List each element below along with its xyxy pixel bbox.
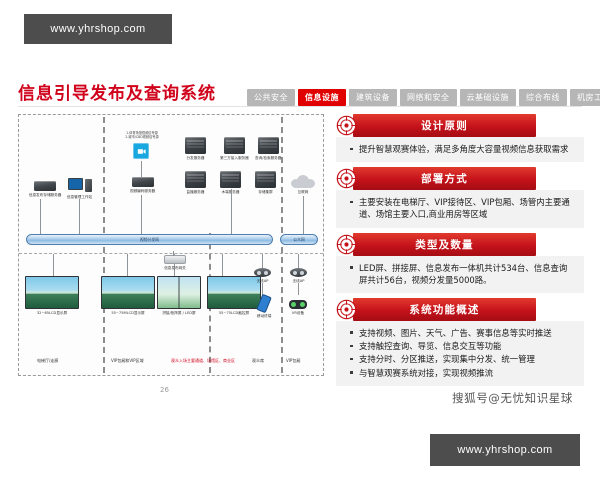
storage-server-label: 信息发布存储服务器 <box>29 193 61 198</box>
drop-line-1 <box>53 254 54 276</box>
router-icon <box>164 255 186 264</box>
mobile-terminal-label: 移动终端 <box>257 314 271 319</box>
mobile-phone-icon <box>256 294 272 314</box>
storage-server-icon <box>34 181 56 191</box>
lcd-screen-icon <box>101 276 155 309</box>
target-icon <box>336 234 357 255</box>
section-header: 系统功能概述 <box>336 298 584 321</box>
section-heading: 系统功能概述 <box>409 302 479 317</box>
tab-cloud-infra[interactable]: 云基础设施 <box>460 89 517 106</box>
video-wall-icon <box>157 276 201 309</box>
tab-building-equipment[interactable]: 建筑设备 <box>349 89 397 106</box>
section-header: 部署方式 <box>336 167 584 190</box>
query-server-label: 查询/检索服务器 <box>255 156 281 161</box>
bullet-list: 主要安装在电梯厅、VIP接待区、VIP包厢、场管内主要通道、场馆主要入口,商业用… <box>350 196 575 220</box>
target-icon <box>336 168 357 189</box>
node-encoder: 视频编码服务器 <box>130 177 155 194</box>
bus-video-distribution: 视频分发网 <box>26 234 273 245</box>
category-tabs: 公共安全 信息设施 建筑设备 网络和安全 云基础设施 综合布线 机房工程 <box>247 89 600 106</box>
diagram-divider-1 <box>103 117 105 373</box>
zone-label-vip: VIP包厢和VIP区域 <box>111 358 144 364</box>
section-ribbon: 类型及数量 <box>353 233 536 256</box>
bus-public-network: 公众网 <box>280 234 318 245</box>
section-design-principles: 设计原则 提升智慧观赛体验，满足多角度大容量视频信息获取需求 <box>336 114 584 162</box>
node-video-wall: 拼接/矩阵屏 / LED屏 <box>157 276 201 316</box>
node-gateway-router: 信息发布网关 <box>164 255 186 271</box>
section-deployment: 部署方式 主要安装在电梯厅、VIP接待区、VIP包厢、场管内主要通道、场馆主要入… <box>336 167 584 227</box>
bullet-item: 提升智慧观赛体验，满足多角度大容量视频信息获取需求 <box>350 143 575 155</box>
monitor-server-label: 监播服务器 <box>187 190 205 195</box>
section-ribbon: 部署方式 <box>353 167 536 190</box>
link-cloud-bus <box>303 196 304 234</box>
zone-label-public: 观众入场主要通道、场馆区、商业区 <box>171 358 235 364</box>
bullet-list: 支持视频、图片、天气、广告、赛事信息等实时推送 支持触控查询、导览、信息交互等功… <box>350 327 575 379</box>
vr-device-label: VR设备 <box>292 311 304 316</box>
lcd-touch-display-label: 55~75LCD触控屏 <box>219 311 249 316</box>
section-body: 支持视频、图片、天气、广告、赛事信息等实时推送 支持触控查询、导览、信息交互等功… <box>336 321 584 386</box>
workstation-icon <box>68 178 92 193</box>
wireless-ap-icon <box>254 268 271 277</box>
link-workstation <box>79 199 80 234</box>
section-body: 提升智慧观赛体验，满足多角度大容量视频信息获取需求 <box>336 137 584 162</box>
tab-info-facilities[interactable]: 信息设施 <box>298 89 346 106</box>
lcd-touch-screen-icon <box>207 276 261 309</box>
link-servers-bus <box>231 189 232 234</box>
bullet-list: LED屏、拼接屏、信息发布一体机共计534台、信息查询屏共计56台，视频分发量5… <box>350 262 575 286</box>
section-heading: 部署方式 <box>421 171 468 186</box>
bullet-item: 支持视频、图片、天气、广告、赛事信息等实时推送 <box>350 327 575 339</box>
diagram-hline <box>19 253 323 254</box>
section-body: 主要安装在电梯厅、VIP接待区、VIP包厢、场管内主要通道、场馆主要入口,商业用… <box>336 190 584 227</box>
node-video-source <box>133 143 149 159</box>
lcd-screen-icon <box>25 276 79 309</box>
server-rack-icon <box>185 171 206 188</box>
node-storage-server: 信息发布存储服务器 <box>29 181 61 198</box>
tab-data-center[interactable]: 机房工程 <box>570 89 600 106</box>
section-heading: 类型及数量 <box>415 237 474 252</box>
bullet-item: 支持触控查询、导览、信息交互等功能 <box>350 340 575 352</box>
bullet-item: 主要安装在电梯厅、VIP接待区、VIP包厢、场管内主要通道、场馆主要入口,商业用… <box>350 196 575 220</box>
page-number: 26 <box>160 386 169 394</box>
section-header: 类型及数量 <box>336 233 584 256</box>
section-heading: 设计原则 <box>421 118 468 133</box>
tab-public-security[interactable]: 公共安全 <box>247 89 295 106</box>
node-storage-cluster: 存储集群 <box>255 171 276 195</box>
section-ribbon: 设计原则 <box>353 114 536 137</box>
node-mobile-terminal: 移动终端 <box>257 295 271 319</box>
drop-line-6 <box>298 254 299 268</box>
node-internet-cloud: 互联网 <box>291 175 315 195</box>
drop-line-5 <box>262 254 263 268</box>
distribution-server-label: 分发服务器 <box>187 156 205 161</box>
node-distribution-server: 分发服务器 <box>185 137 206 161</box>
cloud-icon <box>291 175 315 188</box>
zone-label-vip-box: VIP包厢 <box>286 358 300 364</box>
video-wall-label: 拼接/矩阵屏 / LED屏 <box>162 311 195 316</box>
content-panel: 设计原则 提升智慧观赛体验，满足多角度大容量视频信息获取需求 部署方式 <box>336 114 584 391</box>
node-lcd-display-2: 55~75MLCD显示屏 <box>101 276 155 316</box>
storage-cluster-label: 存储集群 <box>258 190 272 195</box>
watermark-top-text: www.yhrshop.com <box>50 23 145 35</box>
internet-cloud-label: 互联网 <box>298 190 309 195</box>
server-rack-icon <box>258 137 279 154</box>
watermark-top: www.yhrshop.com <box>24 14 172 44</box>
node-thirdparty-server: 第三方接入服务器 <box>220 137 249 161</box>
section-body: LED屏、拼接屏、信息发布一体机共计534台、信息查询屏共计56台，视频分发量5… <box>336 256 584 293</box>
watermark-bottom-text: www.yhrshop.com <box>457 444 552 456</box>
bullet-list: 提升智慧观赛体验，满足多角度大容量视频信息获取需求 <box>350 143 575 155</box>
watermark-sohu: 搜狐号@无忧知识星球 <box>452 390 573 406</box>
video-source-note: 1.体育场馆视频信号源2.城市/CBD视频信号源 <box>111 131 173 140</box>
architecture-diagram: 信息发布存储服务器 信息管理工作站 1.体育场馆视频信号源2.城市/CBD视频信… <box>18 114 324 376</box>
node-wireless-ap-2: 无线AP <box>290 268 307 284</box>
video-camera-icon <box>133 143 149 159</box>
node-monitor-server: 监播服务器 <box>185 171 206 195</box>
encoder-label: 视频编码服务器 <box>130 189 155 194</box>
server-rack-icon <box>224 137 245 154</box>
section-system-functions: 系统功能概述 支持视频、图片、天气、广告、赛事信息等实时推送 支持触控查询、导览… <box>336 298 584 386</box>
zone-label-stands: 观众席 <box>252 358 264 364</box>
tab-network-security[interactable]: 网络和安全 <box>400 89 457 106</box>
tab-structured-cabling[interactable]: 综合布线 <box>519 89 567 106</box>
drop-line-2 <box>127 254 128 276</box>
title-divider <box>18 106 582 107</box>
link-storage <box>40 199 41 234</box>
node-lcd-display-1: 32~65LCD显示屏 <box>25 276 79 316</box>
link-source-encoder <box>141 161 142 177</box>
gateway-router-label: 信息发布网关 <box>164 266 186 271</box>
server-rack-icon <box>185 137 206 154</box>
page-title: 信息引导发布及查询系统 <box>18 79 216 104</box>
drop-line-4 <box>222 254 223 276</box>
lcd-display-1-label: 32~65LCD显示屏 <box>37 311 67 316</box>
bullet-item: LED屏、拼接屏、信息发布一体机共计534台、信息查询屏共计56台，视频分发量5… <box>350 262 575 286</box>
watermark-bottom: www.yhrshop.com <box>430 434 580 466</box>
server-rack-icon <box>255 171 276 188</box>
slide-canvas: www.yhrshop.com 搜狐号@无忧知识星球 www.yhrshop.c… <box>0 0 600 480</box>
lcd-display-2-label: 55~75MLCD显示屏 <box>111 311 144 316</box>
wireless-ap-icon <box>290 268 307 277</box>
section-ribbon: 系统功能概述 <box>353 298 536 321</box>
zone-label-corridor: 电梯厅/走廊 <box>37 358 58 364</box>
encoder-icon <box>132 177 154 187</box>
node-query-server: 查询/检索服务器 <box>255 137 281 161</box>
vr-goggles-icon <box>289 300 307 309</box>
thirdparty-server-label: 第三方接入服务器 <box>220 156 249 161</box>
target-icon <box>336 115 357 136</box>
server-rack-icon <box>220 171 241 188</box>
bus-public-network-label: 公众网 <box>293 237 304 243</box>
section-header: 设计原则 <box>336 114 584 137</box>
target-icon <box>336 299 357 320</box>
node-wireless-ap-1: 无线AP <box>254 268 271 284</box>
node-mgmt-workstation: 信息管理工作站 <box>67 178 92 200</box>
link-ap2-vr <box>298 283 299 295</box>
node-lcd-touch-display: 55~75LCD触控屏 <box>207 276 261 316</box>
section-types-quantity: 类型及数量 LED屏、拼接屏、信息发布一体机共计534台、信息查询屏共计56台，… <box>336 233 584 293</box>
bus-video-distribution-label: 视频分发网 <box>140 237 159 243</box>
node-vr-device: VR设备 <box>289 300 307 316</box>
link-encoder-bus <box>141 195 142 234</box>
bullet-item: 与智慧观赛系统对接，实现视频推流 <box>350 367 575 379</box>
bullet-item: 支持分时、分区推送，实现集中分发、统一管理 <box>350 353 575 365</box>
